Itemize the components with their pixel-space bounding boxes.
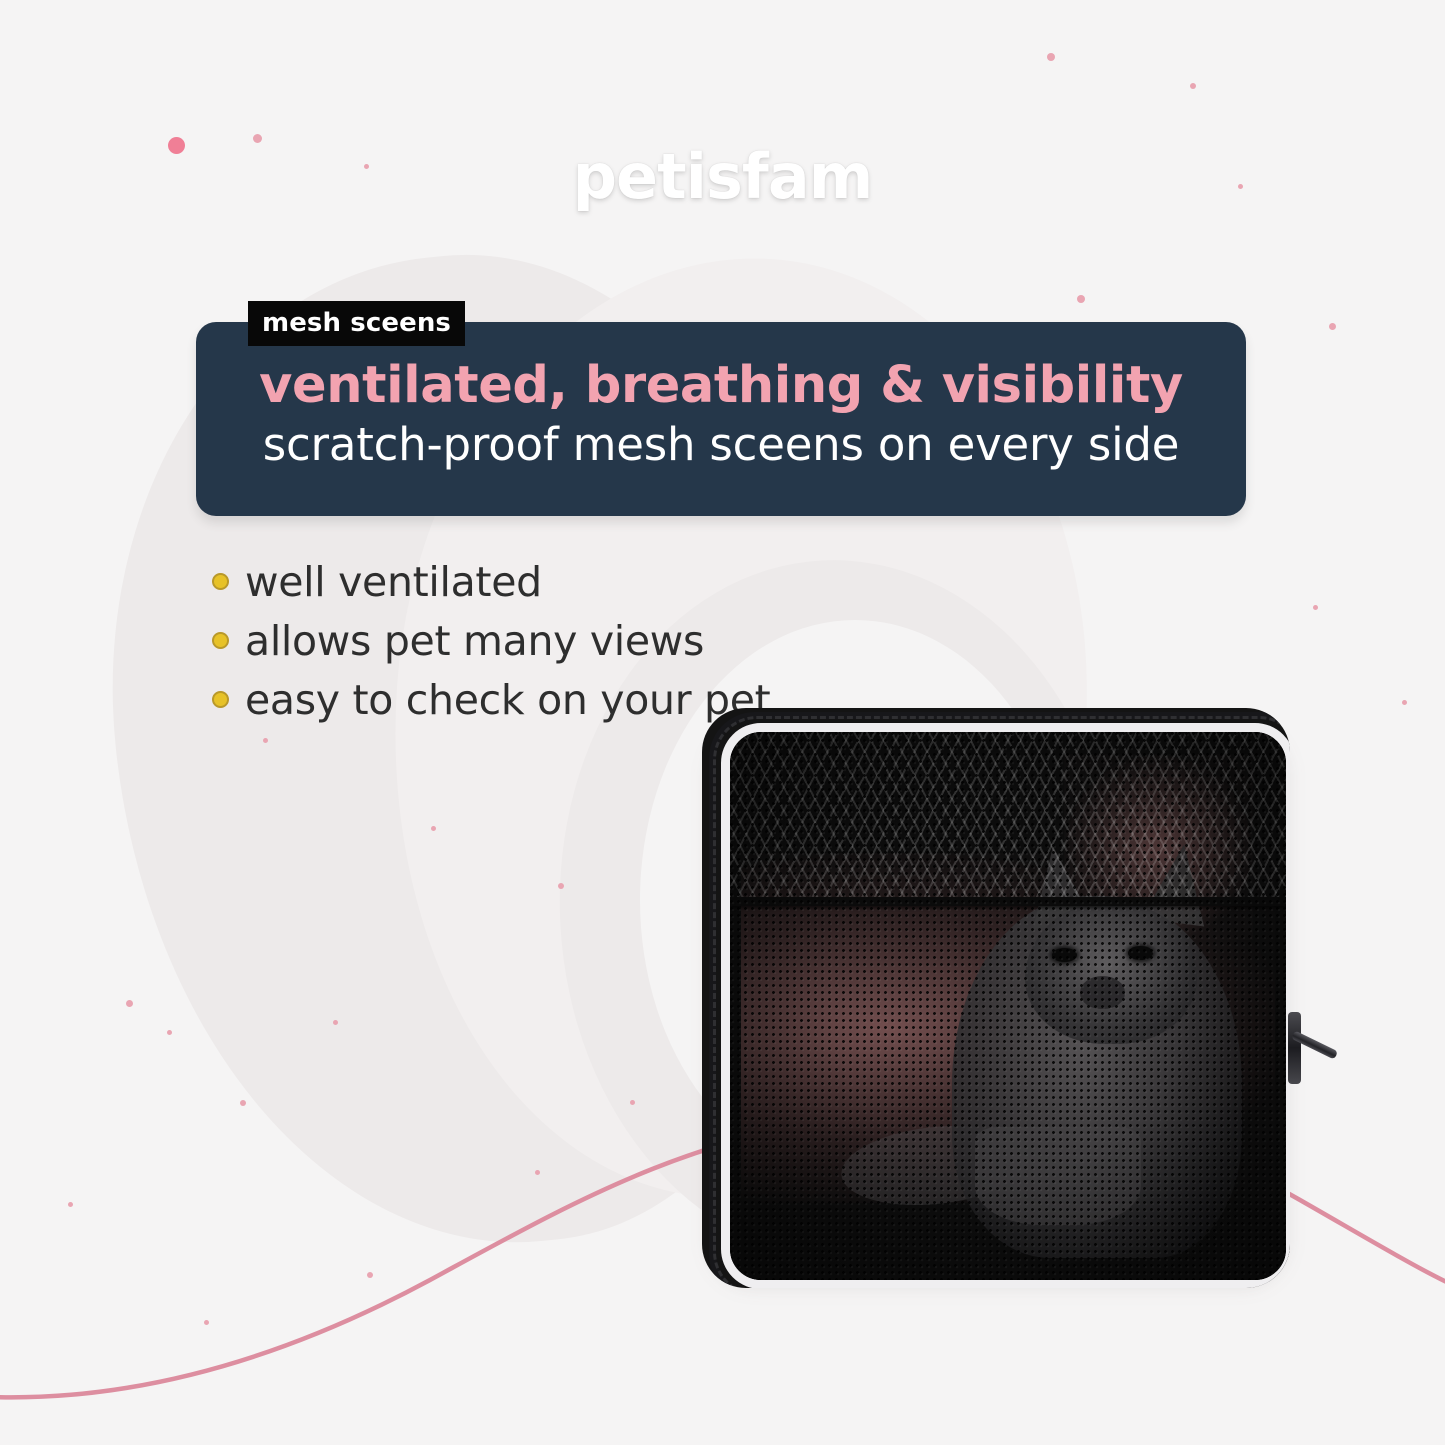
accent-dot	[1077, 295, 1085, 303]
accent-dot	[204, 1320, 209, 1325]
brand-logo-text: petisfam	[573, 140, 873, 213]
accent-dot	[367, 1272, 373, 1278]
accent-dot	[1190, 83, 1196, 89]
bullet-dot-icon	[212, 573, 229, 590]
accent-dot	[167, 1030, 172, 1035]
accent-dot	[1402, 700, 1407, 705]
accent-dot	[630, 1100, 635, 1105]
subheadline-text: scratch-proof mesh sceens on every side	[196, 416, 1246, 474]
accent-dot	[1313, 605, 1318, 610]
product-image	[690, 700, 1305, 1295]
accent-dot	[558, 883, 564, 889]
accent-dot	[535, 1170, 540, 1175]
logo-i-dot-icon	[168, 137, 185, 154]
feature-label: well ventilated	[245, 559, 542, 605]
feature-label: allows pet many views	[245, 618, 704, 664]
bullet-dot-icon	[212, 691, 229, 708]
brand-logo: petisfam	[0, 140, 1445, 213]
headline-card: ventilated, breathing & visibility scrat…	[196, 322, 1246, 516]
accent-dot	[431, 826, 436, 831]
list-item: well ventilated	[212, 552, 852, 611]
accent-dot	[1047, 53, 1055, 61]
accent-dot	[263, 738, 268, 743]
bullet-dot-icon	[212, 632, 229, 649]
zipper-teeth	[713, 716, 1290, 1288]
accent-dot	[240, 1100, 246, 1106]
carrier-body	[702, 708, 1290, 1288]
list-item: allows pet many views	[212, 611, 852, 670]
section-badge: mesh sceens	[248, 301, 465, 346]
accent-dot	[68, 1202, 73, 1207]
accent-dot	[333, 1020, 338, 1025]
accent-dot	[126, 1000, 133, 1007]
headline-text: ventilated, breathing & visibility	[196, 356, 1246, 416]
accent-dot	[1329, 323, 1336, 330]
zipper-slider	[1288, 1012, 1301, 1084]
product-infographic: petisfam ventilated, breathing & visibil…	[0, 0, 1445, 1445]
